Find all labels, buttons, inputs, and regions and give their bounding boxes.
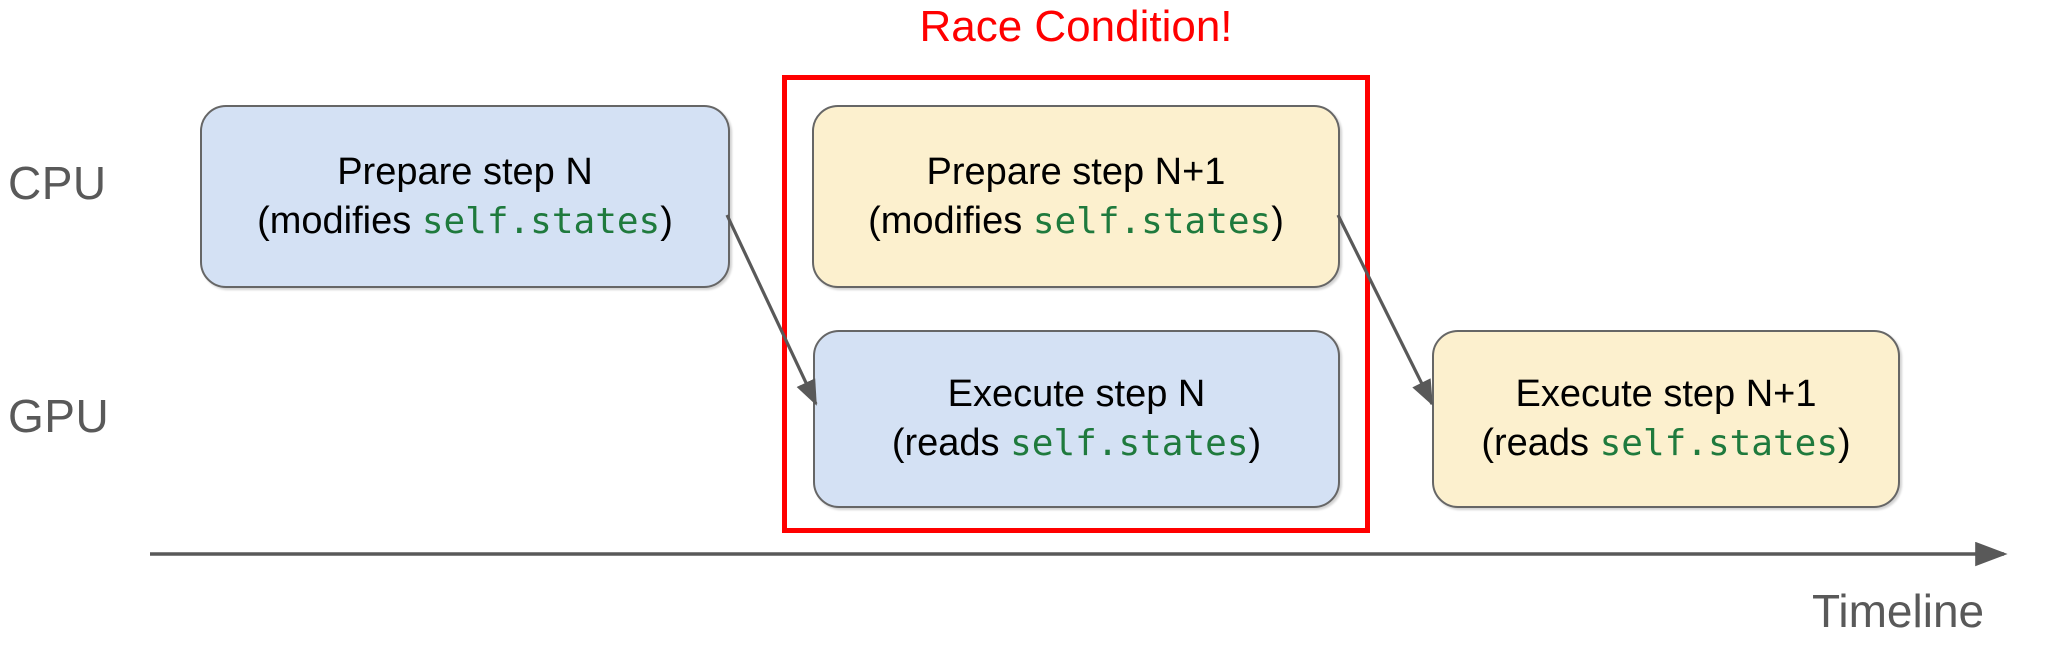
code-token: self.states xyxy=(1033,201,1271,242)
box-execute-step-n-plus-1-line2: (reads self.states) xyxy=(1481,419,1850,468)
box-execute-step-n-line1: Execute step N xyxy=(948,370,1206,419)
lane-label-gpu: GPU xyxy=(8,393,109,439)
text-prefix: (modifies xyxy=(868,200,1033,242)
text-suffix: ) xyxy=(1838,422,1851,464)
box-execute-step-n-plus-1-line1: Execute step N+1 xyxy=(1515,370,1816,419)
text-suffix: ) xyxy=(1249,422,1262,464)
text-prefix: (reads xyxy=(892,422,1010,464)
box-execute-step-n-line2: (reads self.states) xyxy=(892,419,1261,468)
text-suffix: ) xyxy=(660,200,673,242)
box-execute-step-n[interactable]: Execute step N (reads self.states) xyxy=(813,330,1340,508)
box-execute-step-n-plus-1[interactable]: Execute step N+1 (reads self.states) xyxy=(1432,330,1900,508)
lane-label-cpu: CPU xyxy=(8,160,107,206)
timeline-label: Timeline xyxy=(1812,588,1984,634)
code-token: self.states xyxy=(1600,423,1838,464)
text-prefix: (reads xyxy=(1481,422,1599,464)
diagram-canvas: CPU GPU Race Condition! Prepare step N (… xyxy=(0,0,2048,664)
box-prepare-step-n-line1: Prepare step N xyxy=(337,148,593,197)
text-prefix: (modifies xyxy=(257,200,422,242)
box-prepare-step-n-plus-1-line2: (modifies self.states) xyxy=(868,197,1284,246)
box-prepare-step-n-line2: (modifies self.states) xyxy=(257,197,673,246)
race-condition-title: Race Condition! xyxy=(782,2,1370,53)
box-prepare-step-n-plus-1-line1: Prepare step N+1 xyxy=(927,148,1226,197)
box-prepare-step-n[interactable]: Prepare step N (modifies self.states) xyxy=(200,105,730,288)
box-prepare-step-n-plus-1[interactable]: Prepare step N+1 (modifies self.states) xyxy=(812,105,1340,288)
text-suffix: ) xyxy=(1271,200,1284,242)
code-token: self.states xyxy=(422,201,660,242)
code-token: self.states xyxy=(1010,423,1248,464)
